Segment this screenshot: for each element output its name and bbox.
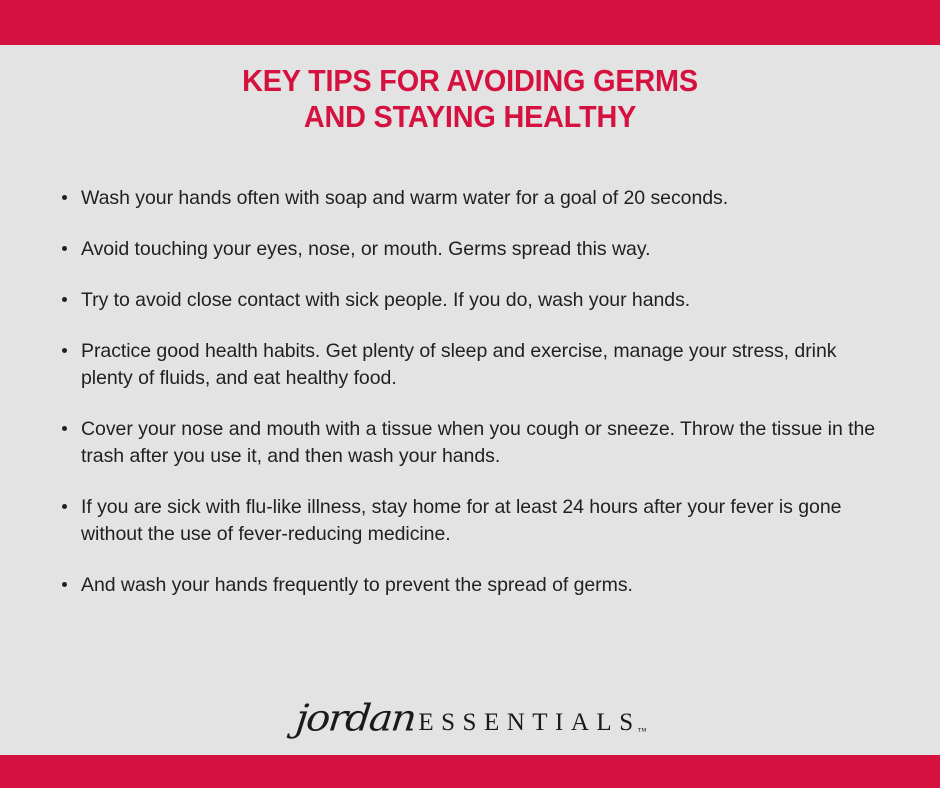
trademark-icon: ™	[638, 727, 647, 737]
brand-logo-word: ESSENTIALS	[418, 710, 640, 735]
list-item: Try to avoid close contact with sick peo…	[62, 287, 892, 314]
bullet-icon	[62, 582, 67, 587]
list-item-text: And wash your hands frequently to preven…	[81, 572, 892, 599]
list-item: Wash your hands often with soap and warm…	[62, 185, 892, 212]
list-item: And wash your hands frequently to preven…	[62, 572, 892, 599]
page-title-line-1: KEY TIPS FOR AVOIDING GERMS	[33, 63, 907, 99]
list-item: If you are sick with flu-like illness, s…	[62, 494, 892, 548]
bullet-icon	[62, 348, 67, 353]
brand-logo: jordan ESSENTIALS ™	[0, 697, 940, 737]
tips-list: Wash your hands often with soap and warm…	[62, 185, 892, 599]
top-accent-bar	[0, 0, 940, 45]
bullet-icon	[62, 504, 67, 509]
bullet-icon	[62, 297, 67, 302]
list-item-text: Cover your nose and mouth with a tissue …	[81, 416, 892, 470]
bullet-icon	[62, 195, 67, 200]
bullet-icon	[62, 246, 67, 251]
list-item: Avoid touching your eyes, nose, or mouth…	[62, 236, 892, 263]
list-item: Cover your nose and mouth with a tissue …	[62, 416, 892, 470]
page-title-line-2: AND STAYING HEALTHY	[33, 99, 907, 135]
poster-body: KEY TIPS FOR AVOIDING GERMS AND STAYING …	[0, 45, 940, 755]
list-item-text: Wash your hands often with soap and warm…	[81, 185, 892, 212]
list-item-text: Avoid touching your eyes, nose, or mouth…	[81, 236, 892, 263]
list-item-text: If you are sick with flu-like illness, s…	[81, 494, 892, 548]
page-title: KEY TIPS FOR AVOIDING GERMS AND STAYING …	[33, 45, 907, 135]
bottom-accent-bar	[0, 755, 940, 788]
list-item-text: Try to avoid close contact with sick peo…	[81, 287, 892, 314]
brand-logo-script: jordan	[294, 700, 423, 737]
list-item: Practice good health habits. Get plenty …	[62, 338, 892, 392]
poster: KEY TIPS FOR AVOIDING GERMS AND STAYING …	[0, 0, 940, 788]
list-item-text: Practice good health habits. Get plenty …	[81, 338, 892, 392]
bullet-icon	[62, 426, 67, 431]
